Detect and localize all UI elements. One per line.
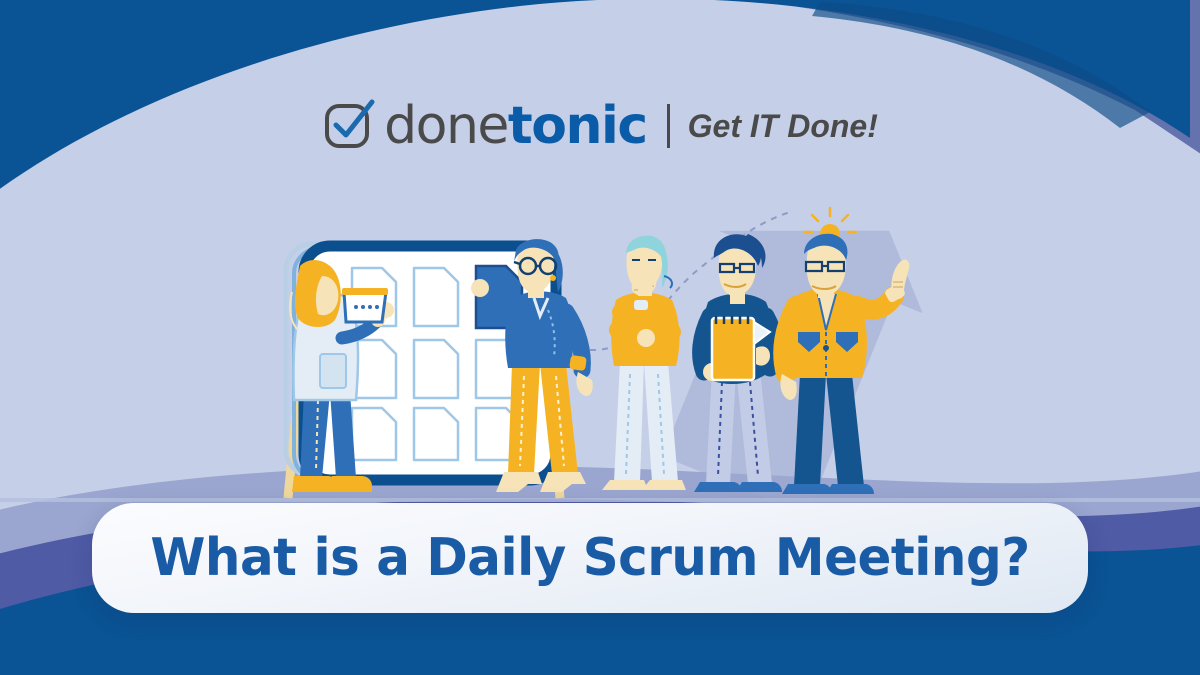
logo-separator	[667, 104, 670, 148]
title-card: What is a Daily Scrum Meeting?	[92, 503, 1088, 613]
facilitator-index-card	[342, 288, 388, 322]
logo-wordmark: donetonic	[384, 100, 647, 152]
ground-line	[0, 498, 1200, 502]
logo-word-tonic: tonic	[508, 96, 647, 156]
checkbox-check-icon	[322, 98, 378, 154]
page-title: What is a Daily Scrum Meeting?	[150, 528, 1029, 588]
logo-tagline: Get IT Done!	[688, 108, 878, 145]
logo-word-done: done	[384, 96, 508, 156]
poster-canvas: donetonic Get IT Done! What is a Daily S…	[0, 0, 1200, 675]
figure-thinker-mint-hair	[602, 236, 686, 490]
brand-logo[interactable]: donetonic Get IT Done!	[0, 98, 1200, 154]
